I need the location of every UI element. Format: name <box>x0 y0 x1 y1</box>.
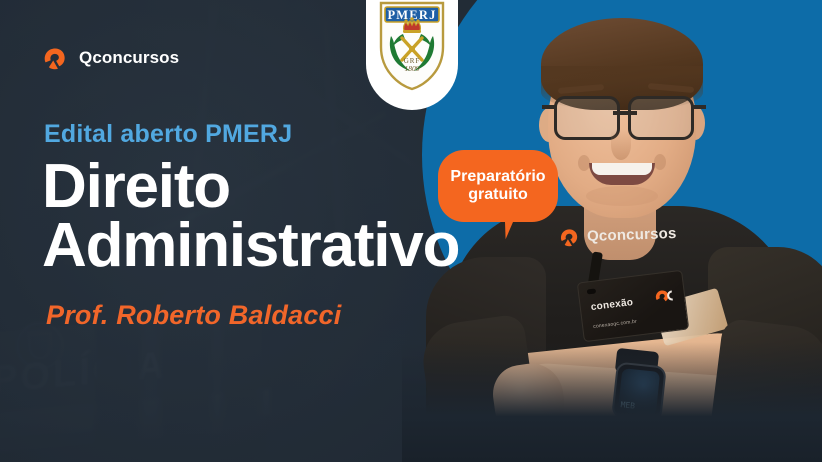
glasses-bridge <box>613 111 637 115</box>
badge-slot <box>587 288 597 294</box>
professor-name: Prof. Roberto Baldacci <box>46 300 341 331</box>
presenter-nose <box>611 130 631 160</box>
promo-banner: POLÍCIA <box>0 0 822 462</box>
badge-line-1: Preparatório <box>450 168 545 185</box>
svg-text:1809: 1809 <box>405 64 420 73</box>
lanyard-badge-icon: conexão conexaoqc.com.br <box>577 270 690 342</box>
presenter-cheek-right <box>654 154 666 170</box>
free-course-badge[interactable]: Preparatório gratuito <box>438 150 558 222</box>
badge-text: conexão <box>590 297 634 313</box>
qconcursos-q-icon <box>40 43 70 73</box>
glasses-temple-left <box>542 105 555 109</box>
kicker-text: Edital aberto PMERJ <box>44 120 292 149</box>
pmerj-emblem: PMERJ GRF 1809 <box>366 0 458 110</box>
title-line-2: Administrativo <box>42 217 562 276</box>
shirt-brand-logo: Qconcursos <box>556 220 677 250</box>
badge-label: Preparatório gratuito <box>450 168 545 204</box>
brand-name: Qconcursos <box>79 48 179 68</box>
brand-logo[interactable]: Qconcursos <box>40 43 179 73</box>
pmerj-crest-icon: PMERJ GRF 1809 <box>378 0 446 92</box>
badge-subtext: conexaoqc.com.br <box>593 319 637 330</box>
badge-line-2: gratuito <box>468 186 528 203</box>
presenter-chin <box>586 186 658 206</box>
bottom-fade <box>402 342 822 462</box>
glasses-temple-right <box>693 105 706 109</box>
glasses-lens-right <box>628 96 694 140</box>
presenter-teeth <box>592 163 652 175</box>
badge-qc-mark-icon <box>652 284 677 309</box>
shirt-brand-text: Qconcursos <box>587 224 677 244</box>
